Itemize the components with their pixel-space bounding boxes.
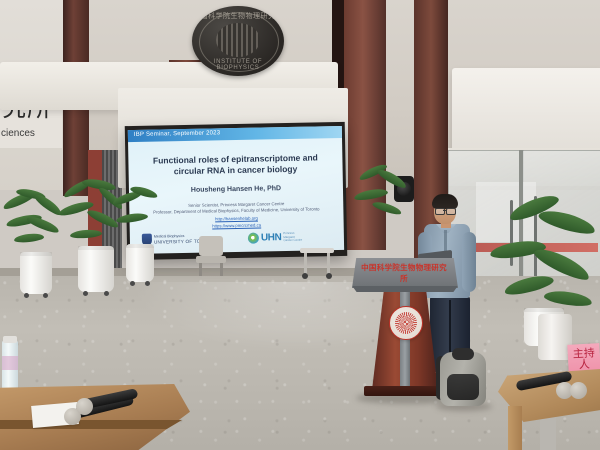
planter-pot — [20, 252, 52, 294]
presenter-glasses-right-lens — [446, 208, 456, 215]
presenter-arm-right — [462, 232, 476, 292]
uhn-logo: UHN Princess Margaret Cancer Centre — [248, 232, 302, 244]
slide-header-text: IBP Seminar, September 2023 — [134, 130, 220, 138]
presenter-glasses-bridge — [443, 210, 446, 211]
backpack-front-pocket — [447, 374, 479, 400]
background-chair — [196, 236, 226, 276]
seal-english-text: INSTITUTE OF BIOPHYSICS — [192, 59, 284, 71]
plant-left-c — [112, 186, 172, 296]
podium-emblem-inner — [395, 312, 417, 334]
moderator-placard-text: 主持人 — [567, 347, 600, 371]
planter-pot — [78, 246, 114, 292]
presenter-hair — [432, 194, 458, 209]
wall-sign-english: ciences — [1, 128, 61, 139]
podium-lip — [350, 286, 460, 292]
background-cart — [300, 248, 334, 278]
microphone-head-right-b[interactable] — [570, 382, 587, 399]
panel-table-left-edge — [0, 420, 182, 429]
uhn-sub-3: Cancer Centre — [283, 239, 302, 243]
seal-chinese-text: 中国科学院生物物理研究所 — [192, 11, 284, 21]
water-bottle-cap[interactable] — [3, 336, 17, 343]
podium-center-groove — [400, 290, 410, 390]
podium-front-panel: 中国科学院生物物理研究所 — [358, 262, 450, 276]
microphone-head-left-b[interactable] — [76, 398, 93, 415]
uhn-swirl-icon — [248, 233, 259, 244]
water-bottle-label — [2, 356, 18, 370]
backpack-top-handle — [452, 348, 474, 360]
slide-header-band: IBP Seminar, September 2023 — [128, 126, 342, 142]
uhn-wordmark: UHN — [261, 233, 282, 243]
table-right-leg-front — [508, 406, 522, 450]
slide-title: Functional roles of epitranscriptome and… — [138, 152, 332, 178]
podium-emblem-icon — [389, 306, 423, 340]
lecture-hall-photo: 究所 ciences 中国科学院生物物理研究所 INSTITUTE OF BIO… — [0, 0, 600, 450]
podium-front-text: 中国科学院生物物理研究所 — [358, 262, 450, 284]
seal-emblem-core — [216, 23, 260, 57]
moderator-placard: 主持人 — [567, 343, 600, 373]
institute-seal-icon: 中国科学院生物物理研究所 INSTITUTE OF BIOPHYSICS — [192, 6, 284, 76]
planter-pot — [126, 244, 154, 282]
